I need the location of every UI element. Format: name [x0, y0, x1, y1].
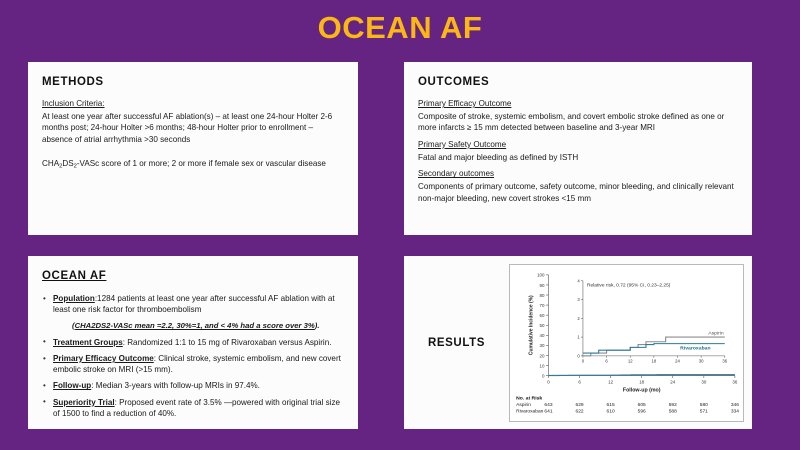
inset-x-axis-tick-label: 30	[699, 358, 704, 363]
inset-y-axis-tick-label: 0	[577, 353, 580, 358]
bullet-text: : Randomized 1:1 to 15 mg of Rivaroxaban…	[123, 338, 332, 347]
y-axis-tick-label: 60	[539, 313, 545, 318]
bullet-text: :1284 patients at least one year after s…	[53, 294, 335, 314]
y-axis-tick-label: 10	[539, 363, 545, 368]
x-axis-tick-label: 30	[701, 379, 707, 384]
x-axis-tick-label: 18	[639, 379, 645, 384]
risk-table-cell: 615	[607, 402, 615, 408]
risk-table-cell: 334	[731, 408, 739, 414]
slide: OCEAN AF METHODS Inclusion Criteria: At …	[0, 0, 800, 450]
outcomes-heading: OUTCOMES	[418, 76, 738, 88]
methods-card: METHODS Inclusion Criteria: At least one…	[28, 62, 358, 235]
y-axis-tick-label: 100	[537, 272, 545, 277]
y-axis-tick-label: 50	[539, 323, 545, 328]
ocean-af-bullet-list: Population:1284 patients at least one ye…	[42, 293, 344, 419]
secondary-outcomes-label: Secondary outcomes	[418, 169, 738, 178]
results-card: RESULTS 0102030405060708090100Cumulative…	[404, 256, 752, 429]
inclusion-criteria-label: Inclusion Criteria:	[42, 99, 344, 108]
bullet-label: Treatment Groups	[53, 338, 123, 347]
kaplan-meier-figure: 0102030405060708090100Cumulative Inciden…	[509, 264, 744, 422]
inset-x-axis-tick-label: 12	[628, 358, 633, 363]
x-axis-tick-label: 0	[547, 379, 550, 384]
list-item: Primary Efficacy Outcome: Clinical strok…	[42, 353, 344, 375]
inset-y-axis-tick-label: 4	[577, 278, 580, 283]
bullet-label: Superiority Trial	[53, 398, 115, 407]
risk-table-cell: 580	[700, 402, 708, 408]
inset-x-axis-tick-label: 36	[722, 358, 727, 363]
x-axis-tick-label: 24	[670, 379, 676, 384]
list-item: Treatment Groups: Randomized 1:1 to 15 m…	[42, 337, 344, 348]
y-axis-tick-label: 70	[539, 303, 545, 308]
list-item: Follow-up: Median 3-years with follow-up…	[42, 380, 344, 391]
inset-x-axis-tick-label: 0	[582, 358, 585, 363]
risk-table-cell: 641	[544, 408, 552, 414]
risk-table-cell: 629	[576, 402, 584, 408]
chart-annotation: Relative risk, 0.72 (95% CI, 0.23–2.25)	[587, 282, 671, 288]
y-axis-label: Cumulative Incidence (%)	[528, 295, 534, 355]
main-curve-rivaroxaban	[548, 374, 734, 375]
list-item: Population:1284 patients at least one ye…	[42, 293, 344, 315]
primary-safety-outcome-label: Primary Safety Outcome	[418, 140, 738, 149]
inset-x-axis-tick-label: 6	[605, 358, 608, 363]
subnote-underlined: CHA2DS2-VASc mean =2.2, 30%=1, and < 4% …	[75, 321, 315, 330]
kaplan-meier-svg: 0102030405060708090100Cumulative Inciden…	[510, 265, 743, 421]
primary-efficacy-outcome-label: Primary Efficacy Outcome	[418, 99, 738, 108]
bullet-text: : Median 3-years with follow-up MRIs in …	[91, 381, 260, 390]
inset-y-axis-tick-label: 1	[577, 334, 580, 339]
ocean-af-heading: OCEAN AF	[42, 270, 344, 282]
bullet-label: Population	[53, 294, 95, 303]
subnote-close: ).	[315, 321, 320, 330]
bullet-label: Primary Efficacy Outcome	[53, 354, 154, 363]
risk-table-row-label: Rivaroxaban	[516, 408, 544, 414]
y-axis-tick-label: 80	[539, 292, 545, 297]
inset-x-axis-tick-label: 18	[651, 358, 656, 363]
y-axis-tick-label: 90	[539, 282, 545, 287]
outcomes-card: OUTCOMES Primary Efficacy Outcome Compos…	[404, 62, 752, 235]
risk-table-cell: 605	[638, 402, 646, 408]
legend-label-aspirin: Aspirin	[708, 330, 724, 336]
risk-table-cell: 596	[638, 408, 646, 414]
list-item-subnote: (CHA2DS2-VASc mean =2.2, 30%=1, and < 4%…	[42, 320, 344, 332]
secondary-outcomes-text: Components of primary outcome, safety ou…	[418, 181, 738, 204]
x-axis-tick-label: 6	[578, 379, 581, 384]
risk-table-row-label: Aspirin	[516, 402, 531, 408]
primary-safety-outcome-text: Fatal and major bleeding as defined by I…	[418, 152, 738, 163]
spacer	[42, 145, 344, 158]
y-axis-tick-label: 20	[539, 353, 545, 358]
risk-table-cell: 571	[700, 408, 708, 414]
inclusion-criteria-text: At least one year after successful AF ab…	[42, 111, 344, 145]
risk-table-cell: 643	[544, 402, 552, 408]
bullet-label: Follow-up	[53, 381, 91, 390]
inset-y-axis-tick-label: 2	[577, 315, 580, 320]
score-mid: DS	[62, 159, 73, 168]
y-axis-tick-label: 30	[539, 343, 545, 348]
risk-table-title: No. at Risk	[516, 395, 542, 401]
inset-y-axis-tick-label: 3	[577, 297, 580, 302]
y-axis-tick-label: 40	[539, 333, 545, 338]
risk-table-cell: 592	[669, 402, 677, 408]
primary-efficacy-outcome-text: Composite of stroke, systemic embolism, …	[418, 111, 738, 134]
y-axis-tick-label: 0	[542, 373, 545, 378]
legend-label-rivaroxaban: Rivaroxaban	[680, 345, 710, 351]
results-heading: RESULTS	[404, 337, 509, 349]
risk-table-cell: 588	[669, 408, 677, 414]
ocean-af-card: OCEAN AF Population:1284 patients at lea…	[28, 256, 358, 429]
risk-table-cell: 622	[576, 408, 584, 414]
inset-x-axis-tick-label: 24	[675, 358, 680, 363]
risk-table-cell: 346	[731, 402, 739, 408]
page-title: OCEAN AF	[0, 10, 800, 46]
x-axis-tick-label: 36	[732, 379, 738, 384]
chads-vasc-score-text: CHA2DS2-VASc score of 1 or more; 2 or mo…	[42, 158, 344, 171]
list-item: Superiority Trial: Proposed event rate o…	[42, 397, 344, 419]
risk-table-cell: 610	[607, 408, 615, 414]
x-axis-label: Follow-up (mo)	[623, 387, 661, 393]
methods-heading: METHODS	[42, 76, 344, 88]
x-axis-tick-label: 12	[608, 379, 614, 384]
score-suffix: -VASc score of 1 or more; 2 or more if f…	[77, 159, 326, 168]
score-prefix: CHA	[42, 159, 59, 168]
